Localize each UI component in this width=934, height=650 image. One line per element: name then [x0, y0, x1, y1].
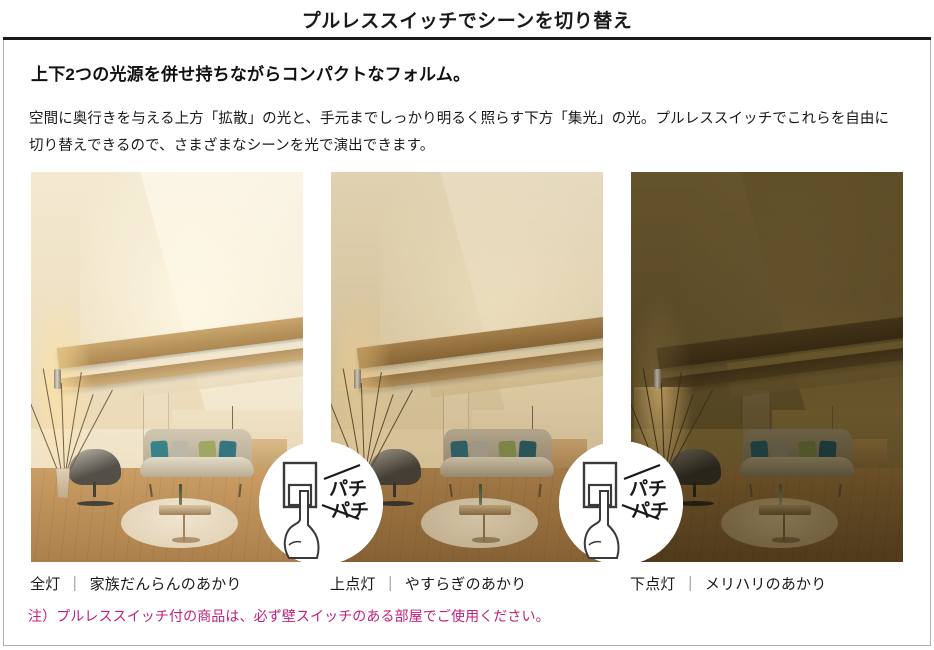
- wall-switch-callout-2: パチ パチ: [559, 441, 683, 565]
- armchair-base: [77, 501, 113, 506]
- sconce-uplight-glow: [334, 289, 394, 390]
- footnote-text: 注）プルレススイッチ付の商品は、必ず壁スイッチのある部屋でご使用ください。: [28, 606, 550, 626]
- coffee-table-base: [772, 537, 799, 542]
- sofa-seat: [140, 457, 254, 477]
- caption-mode: 全灯: [30, 576, 60, 593]
- caption-scene: 家族だんらんのあかり: [90, 576, 242, 593]
- description-line-2: 切り替えできるので、さまざまなシーンを光で演出できます。: [29, 133, 917, 160]
- coffee-table-base: [172, 537, 199, 542]
- sofa-seat: [740, 457, 854, 477]
- badge-sound-top: パチ: [629, 478, 667, 500]
- coffee-table-base: [472, 537, 499, 542]
- sofa: [740, 429, 854, 488]
- bottle: [179, 484, 182, 505]
- caption-lower-on: 下点灯｜メリハリのあかり: [630, 573, 826, 594]
- caption-scene: メリハリのあかり: [705, 576, 827, 593]
- bottle: [479, 484, 482, 505]
- caption-upper-on: 上点灯｜やすらぎのあかり: [330, 573, 526, 594]
- badge-sound-top: パチ: [329, 478, 367, 500]
- sconce-uplight-glow: [634, 289, 694, 390]
- wall-switch-callout-1: パチ パチ: [259, 441, 383, 565]
- lead-heading: 上下2つの光源を併せ持ちながらコンパクトなフォルム。: [31, 60, 470, 85]
- caption-separator: ｜: [60, 576, 89, 593]
- armchair-stem: [93, 482, 96, 497]
- description-text: 空間に奥行きを与える上方「拡散」の光と、手元までしっかり明るく照らす下方「集光」…: [29, 106, 917, 160]
- figure-header: プルレススイッチでシーンを切り替え: [3, 2, 931, 40]
- description-line-1: 空間に奥行きを与える上方「拡散」の光と、手元までしっかり明るく照らす下方「集光」…: [29, 106, 917, 133]
- caption-all-on: 全灯｜家族だんらんのあかり: [30, 573, 242, 594]
- sofa-seat: [440, 457, 554, 477]
- caption-mode: 下点灯: [630, 576, 676, 593]
- sconce-uplight-glow: [34, 289, 94, 390]
- lighting-scene-figure: プルレススイッチでシーンを切り替え 上下2つの光源を併せ持ちながらコンパクトなフ…: [0, 0, 934, 650]
- bottle: [779, 484, 782, 505]
- badge-sound-bottom: パチ: [631, 500, 669, 522]
- caption-scene: やすらぎのあかり: [405, 576, 527, 593]
- scene-panel-group: [31, 172, 903, 562]
- armchair-stem: [393, 482, 396, 497]
- sofa: [440, 429, 554, 488]
- caption-mode: 上点灯: [330, 576, 376, 593]
- badge-sound-bottom: パチ: [331, 500, 369, 522]
- caption-separator: ｜: [676, 576, 705, 593]
- sofa: [140, 429, 254, 488]
- caption-separator: ｜: [376, 576, 405, 593]
- page-title: プルレススイッチでシーンを切り替え: [302, 6, 633, 33]
- armchair-stem: [693, 482, 696, 497]
